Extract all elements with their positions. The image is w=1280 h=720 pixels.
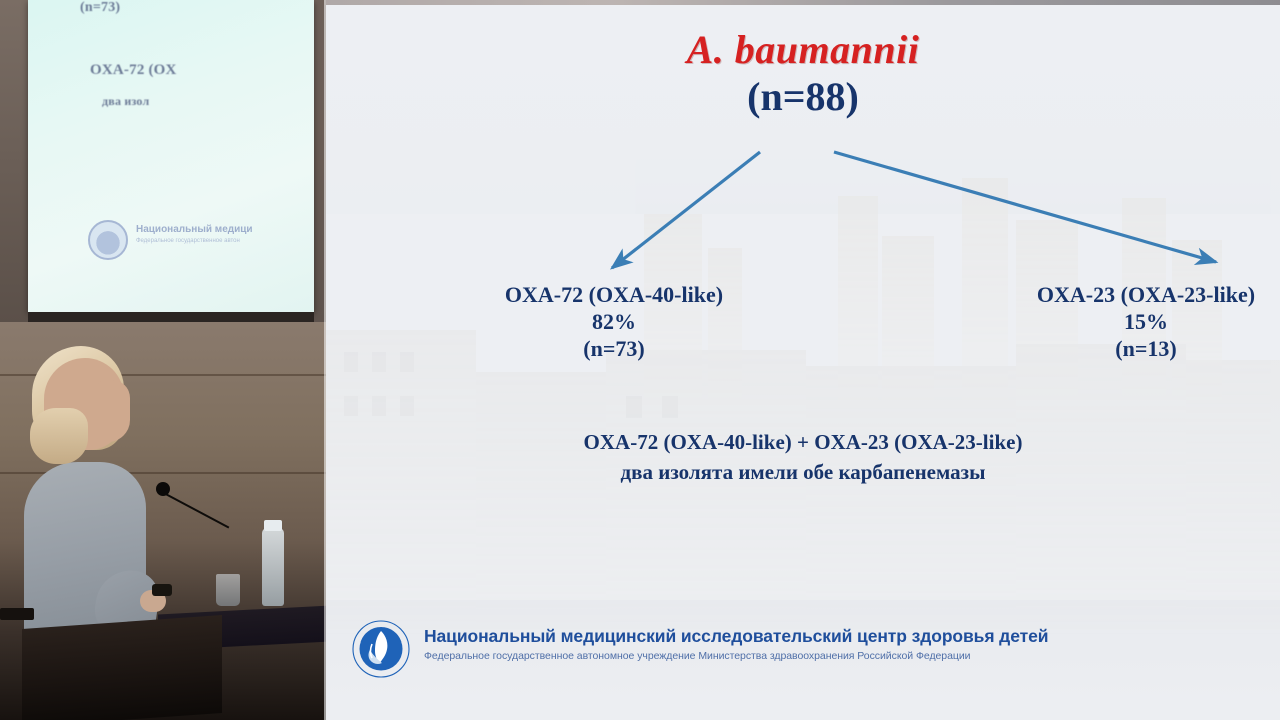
projected-count-left: (n=73) [80,0,120,16]
projected-note-line2: два изол [102,94,149,109]
book-on-table [0,608,34,620]
slide-pane: A. baumannii (n=88) OXA-72 (OXA-40-like)… [326,0,1280,720]
combined-note-line2: два изолята имели обе карбапенемазы [326,458,1280,488]
microphone-icon [156,482,170,496]
presenter-clicker [152,584,172,596]
branch-left: OXA-72 (OXA-40-like) 82% (n=73) [404,282,824,362]
speaker-hair-lower [30,408,88,464]
projection-screen-frame [28,312,314,322]
org-text-block: Национальный медицинский исследовательск… [424,626,1048,662]
slide-footer: Национальный медицинский исследовательск… [352,620,1252,678]
projection-screen: (n=73) OXA-72 (OX два изол Национальный … [28,0,314,312]
water-bottle-cap [264,520,282,531]
projected-org-logo: Национальный медици Федеральное государс… [46,218,282,262]
combined-note: OXA-72 (OXA-40-like) + OXA-23 (OXA-23-li… [326,428,1280,488]
lectern [22,615,222,720]
arrow-down-right [834,152,1216,262]
branch-left-name: OXA-72 (OXA-40-like) [404,282,824,309]
lecture-hall-lower [0,322,326,720]
org-name: Национальный медицинский исследовательск… [424,626,1048,647]
branch-right-name: OXA-23 (OXA-23-like) [936,282,1280,309]
speaker-face [96,380,130,442]
water-bottle [262,528,284,606]
projected-note-line1: OXA-72 (OX [90,62,177,79]
combined-note-line1: OXA-72 (OXA-40-like) + OXA-23 (OXA-23-li… [326,428,1280,458]
screen-capture: (n=73) OXA-72 (OX два изол Национальный … [0,0,1280,720]
branch-left-count: (n=73) [404,336,824,363]
hall-wall [0,0,28,322]
projected-org-name: Национальный медици [136,224,253,235]
lecture-hall-upper: (n=73) OXA-72 (OX два изол Национальный … [0,0,326,322]
projected-org-subtitle: Федеральное государственное автон [136,238,240,244]
lecture-video-pane: (n=73) OXA-72 (OX два изол Национальный … [0,0,326,720]
branch-right: OXA-23 (OXA-23-like) 15% (n=13) [936,282,1280,362]
branch-right-count: (n=13) [936,336,1280,363]
center-health-children-logo-icon [352,620,410,678]
branch-right-percent: 15% [936,309,1280,336]
arrow-down-left [612,152,760,268]
projected-emblem-icon [88,220,128,260]
branch-left-percent: 82% [404,309,824,336]
drinking-glass [216,574,240,606]
microphone-stem [160,490,230,528]
org-subtitle: Федеральное государственное автономное у… [424,650,1048,662]
